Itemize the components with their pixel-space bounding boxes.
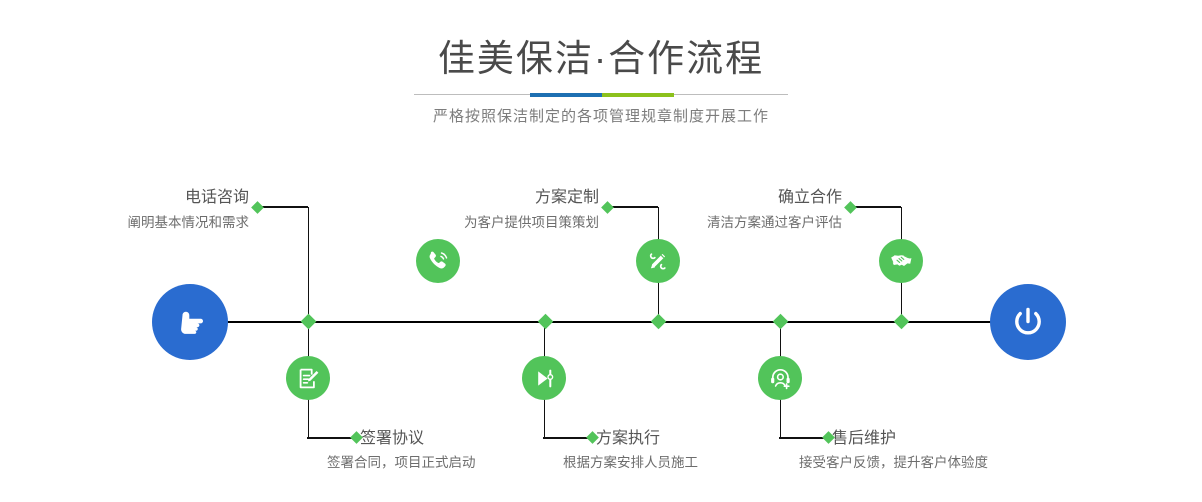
pointing-hand-icon	[170, 302, 210, 342]
axis-marker-5b	[894, 314, 910, 330]
label-marker-1	[251, 201, 264, 214]
connector-horizontal-1	[258, 206, 308, 208]
step-label-1: 电话咨询	[123, 187, 249, 209]
step-label-4: 方案执行	[596, 428, 796, 450]
step-desc-1: 阐明基本情况和需求	[93, 213, 249, 233]
step-desc-4: 根据方案安排人员施工	[563, 453, 793, 473]
document-edit-icon	[296, 366, 321, 391]
page-subtitle: 严格按照保洁制定的各项管理规章制度开展工作	[0, 106, 1202, 128]
power-icon	[1007, 301, 1049, 343]
connector-vertical-1	[308, 207, 310, 321]
step-desc-3: 为客户提供项目策策划	[443, 213, 599, 233]
handshake-icon	[888, 248, 914, 274]
step-desc-2: 签署合同，项目正式启动	[327, 453, 557, 473]
divider-segment-green	[602, 93, 674, 97]
divider-segment-blue	[530, 93, 602, 97]
step-icon-3[interactable]	[636, 239, 680, 283]
step-icon-4[interactable]	[522, 356, 566, 400]
step-icon-6[interactable]	[758, 356, 802, 400]
step-label-3: 方案定制	[473, 187, 599, 209]
axis-marker-2	[301, 314, 317, 330]
phone-call-icon	[425, 248, 451, 274]
connector-horizontal-3	[608, 206, 658, 208]
step-label-2: 签署协议	[360, 428, 560, 450]
step-icon-5[interactable]	[879, 239, 923, 283]
step-label-6: 售后维护	[832, 428, 1052, 450]
title-divider	[414, 93, 788, 97]
step-label-5: 确立合作	[716, 187, 842, 209]
pencil-design-icon	[645, 248, 671, 274]
customer-service-icon	[768, 366, 793, 391]
axis-marker-3b	[651, 314, 667, 330]
page-title: 佳美保洁·合作流程	[0, 36, 1202, 82]
axis-marker-3	[538, 314, 554, 330]
timeline-end-node[interactable]	[990, 284, 1066, 360]
connector-horizontal-5	[851, 206, 901, 208]
step-icon-1[interactable]	[416, 239, 460, 283]
step-desc-6: 接受客户反馈，提升客户体验度	[799, 453, 1059, 473]
step-desc-5: 清洁方案通过客户评估	[686, 213, 842, 233]
flow-diagram-page: 佳美保洁·合作流程 严格按照保洁制定的各项管理规章制度开展工作	[0, 0, 1202, 502]
axis-marker-5	[773, 314, 789, 330]
label-marker-3	[601, 201, 614, 214]
label-marker-5	[844, 201, 857, 214]
step-icon-2[interactable]	[286, 356, 330, 400]
play-execute-icon	[532, 366, 557, 391]
timeline-start-node[interactable]	[152, 284, 228, 360]
